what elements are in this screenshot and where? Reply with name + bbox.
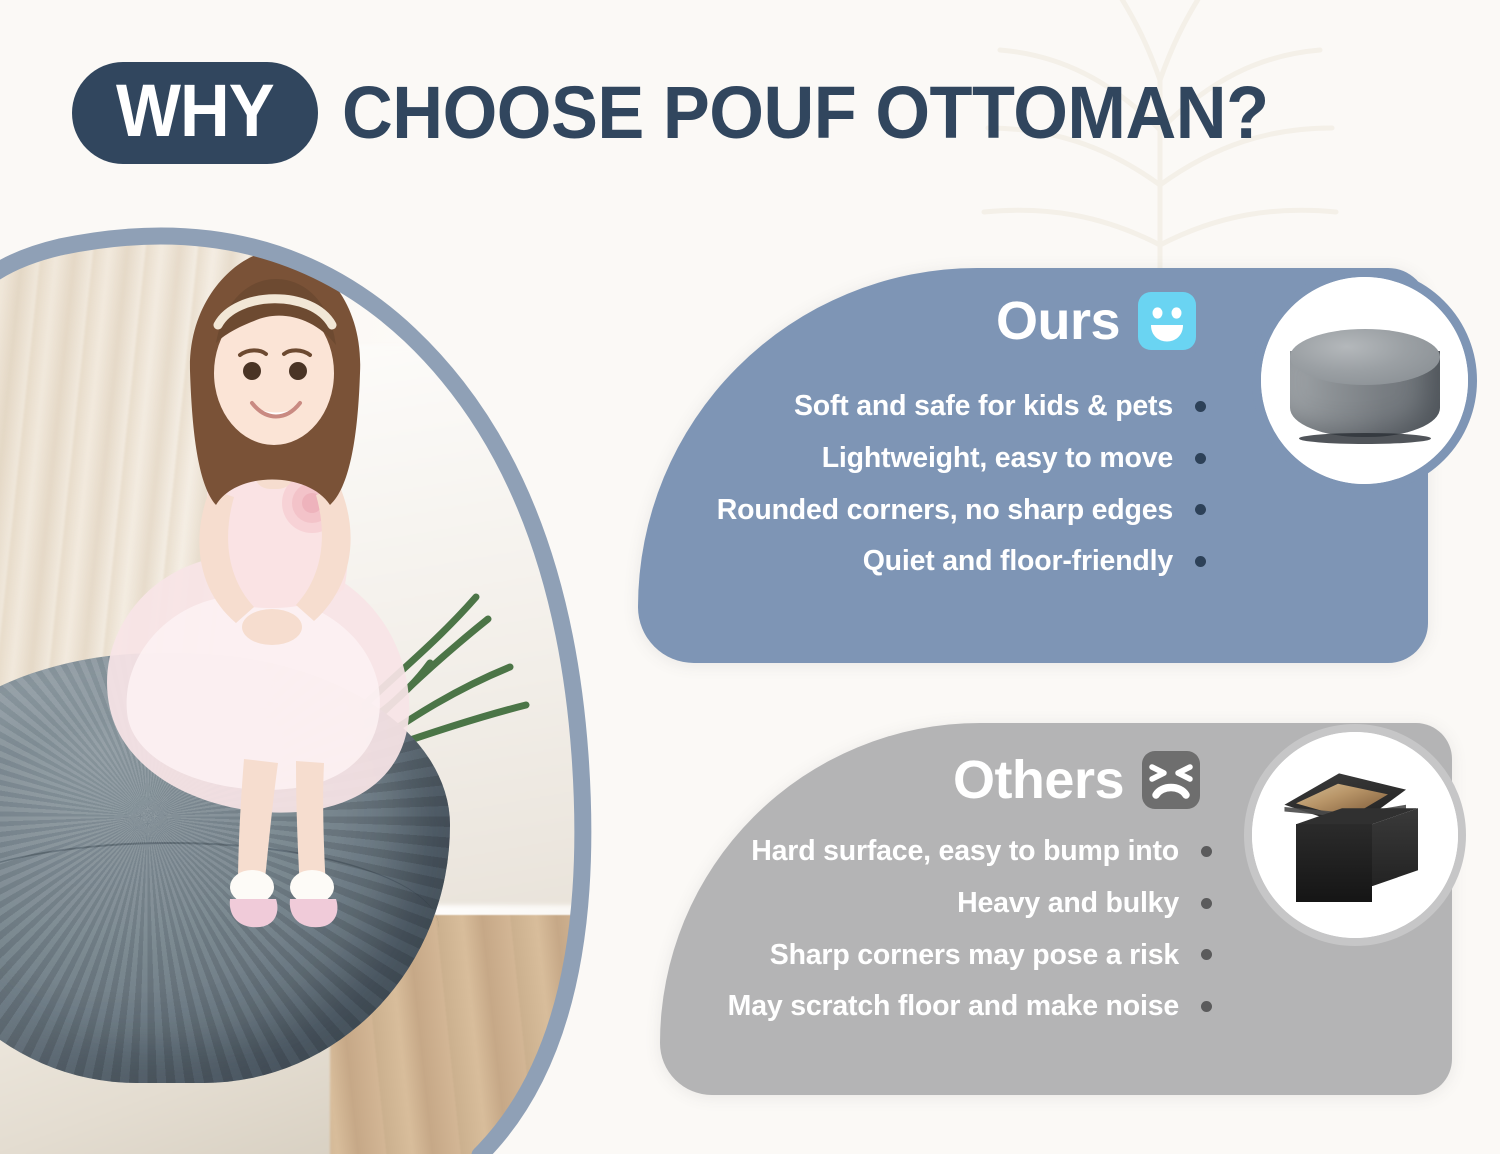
bullet-dot-icon [1201,898,1212,909]
why-badge: WHY [72,62,318,164]
pouf-base-shadow [1299,433,1431,444]
others-item-text: Heavy and bulky [957,887,1179,920]
ours-panel-header: Ours [996,292,1196,350]
infographic-canvas: WHY CHOOSE POUF OTTOMAN? [0,0,1500,1154]
pouf-top [1290,329,1440,385]
bullet-dot-icon [1195,453,1206,464]
others-item-text: Hard surface, easy to bump into [751,835,1179,868]
bullet-dot-icon [1195,504,1206,515]
ottoman-box-front [1296,824,1372,902]
frowning-squinting-face-emoji [1142,751,1200,809]
round-grey-pouf-ottoman-photo [1261,277,1468,484]
list-item: Sharp corners may pose a risk [728,939,1212,972]
list-item: May scratch floor and make noise [728,990,1212,1023]
bullet-dot-icon [1195,556,1206,567]
bullet-dot-icon [1201,949,1212,960]
lifestyle-photo [0,215,660,1154]
ours-item-text: Quiet and floor-friendly [863,545,1173,578]
ours-label: Ours [996,294,1120,348]
ours-item-text: Soft and safe for kids & pets [794,390,1173,423]
ours-item-text: Rounded corners, no sharp edges [717,494,1173,527]
others-product-thumbnail [1244,724,1466,946]
ours-bullet-list: Soft and safe for kids & pets Lightweigh… [717,390,1206,578]
bullet-dot-icon [1201,1001,1212,1012]
others-item-text: May scratch floor and make noise [728,990,1179,1023]
list-item: Heavy and bulky [728,887,1212,920]
list-item: Hard surface, easy to bump into [728,835,1212,868]
round-pouf-illustration [1290,329,1440,441]
others-item-text: Sharp corners may pose a risk [770,939,1179,972]
others-label: Others [953,753,1124,807]
why-badge-label: WHY [116,74,274,148]
ours-product-thumbnail [1252,268,1477,493]
list-item: Rounded corners, no sharp edges [717,494,1206,527]
list-item: Soft and safe for kids & pets [717,390,1206,423]
lifestyle-photo-image [0,215,640,1154]
ours-item-text: Lightweight, easy to move [822,442,1173,475]
bullet-dot-icon [1201,846,1212,857]
list-item: Quiet and floor-friendly [717,545,1206,578]
page-title: CHOOSE POUF OTTOMAN? [342,76,1269,150]
child-sitting-on-pouf [58,239,478,939]
page-title-row: WHY CHOOSE POUF OTTOMAN? [72,62,1317,164]
list-item: Lightweight, easy to move [717,442,1206,475]
storage-ottoman-illustration [1276,768,1434,918]
black-square-storage-ottoman-photo [1252,732,1458,938]
others-bullet-list: Hard surface, easy to bump into Heavy an… [728,835,1212,1023]
bullet-dot-icon [1195,401,1206,412]
smiling-face-emoji [1138,292,1196,350]
others-panel-header: Others [953,751,1200,809]
